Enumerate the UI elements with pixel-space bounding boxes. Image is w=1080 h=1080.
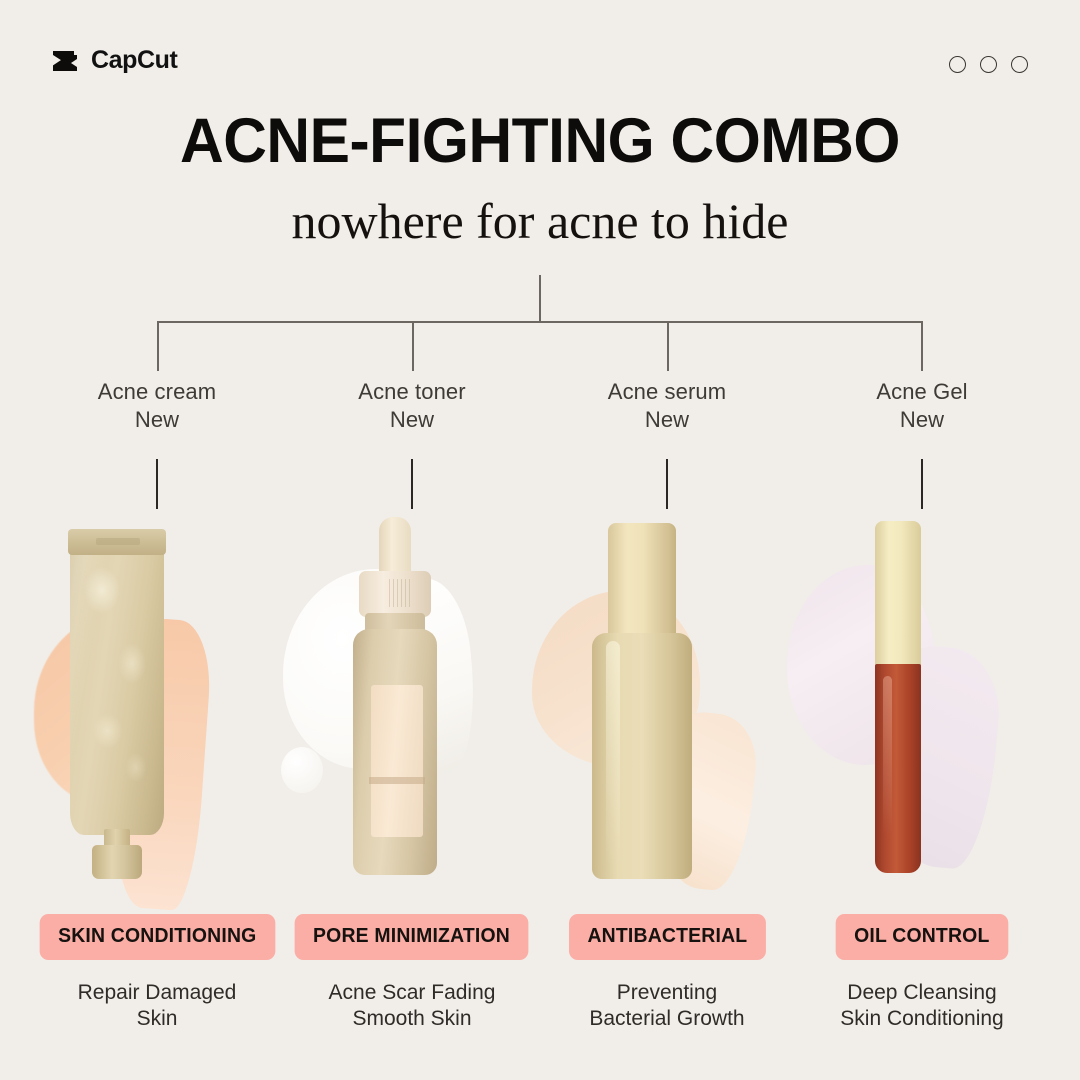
description-line-2: Skin Conditioning	[787, 1006, 1057, 1032]
gel-applicator-body	[875, 664, 921, 873]
description-line-2: Smooth Skin	[277, 1006, 547, 1032]
description-line-2: Skin	[22, 1006, 292, 1032]
connector-stub-1	[156, 459, 158, 509]
product-category-name: Acne serum	[608, 379, 726, 404]
badge-wrapper: ANTIBACTERIAL	[532, 914, 802, 960]
badge-wrapper: SKIN CONDITIONING	[22, 914, 292, 960]
cream-tube	[64, 529, 170, 874]
cream-tube-cap	[92, 845, 142, 879]
product-category-name: Acne Gel	[876, 379, 967, 404]
serum-bottle-body	[592, 633, 692, 879]
benefit-badge[interactable]: SKIN CONDITIONING	[39, 914, 274, 960]
product-description: Deep Cleansing Skin Conditioning	[787, 980, 1057, 1033]
product-category: Acne serum New	[532, 378, 802, 434]
product-category-name: Acne cream	[98, 379, 216, 404]
product-tag-new: New	[277, 406, 547, 434]
product-tag-new: New	[787, 406, 1057, 434]
product-column-acne-serum[interactable]: Acne serum New ANTIBACTERIAL Preventing …	[532, 378, 802, 1032]
cream-tube-seam	[68, 529, 166, 555]
dropper-label	[371, 685, 423, 837]
product-description: Repair Damaged Skin	[22, 980, 292, 1033]
acne-serum-bottle	[532, 517, 802, 902]
badge-wrapper: OIL CONTROL	[787, 914, 1057, 960]
acne-cream-tube	[22, 517, 292, 902]
toner-swatch-white-dot	[281, 747, 323, 793]
product-description: Acne Scar Fading Smooth Skin	[277, 980, 547, 1033]
connector-stub-3	[666, 459, 668, 509]
serum-bottle-cap	[608, 523, 676, 643]
description-line-1: Repair Damaged	[22, 980, 292, 1006]
product-category: Acne toner New	[277, 378, 547, 434]
description-line-1: Acne Scar Fading	[277, 980, 547, 1006]
product-column-acne-toner[interactable]: Acne toner New PORE MINIMIZATION Acne Sc…	[277, 378, 547, 1032]
product-category: Acne cream New	[22, 378, 292, 434]
product-description: Preventing Bacterial Growth	[532, 980, 802, 1033]
gel-applicator-cap	[875, 521, 921, 666]
product-tag-new: New	[532, 406, 802, 434]
description-line-1: Preventing	[532, 980, 802, 1006]
badge-wrapper: PORE MINIMIZATION	[277, 914, 547, 960]
product-category-name: Acne toner	[358, 379, 465, 404]
benefit-badge[interactable]: PORE MINIMIZATION	[295, 914, 529, 960]
description-line-2: Bacterial Growth	[532, 1006, 802, 1032]
product-category: Acne Gel New	[787, 378, 1057, 434]
dropper-bottle	[335, 517, 455, 877]
connector-stub-2	[411, 459, 413, 509]
product-column-acne-gel[interactable]: Acne Gel New OIL CONTROL Deep Cleansing …	[787, 378, 1057, 1032]
acne-gel-applicator	[787, 517, 1057, 902]
description-line-1: Deep Cleansing	[787, 980, 1057, 1006]
gel-applicator-tube	[867, 521, 927, 873]
benefit-badge[interactable]: OIL CONTROL	[836, 914, 1008, 960]
product-tag-new: New	[22, 406, 292, 434]
serum-bottle	[584, 523, 700, 879]
benefit-badge[interactable]: ANTIBACTERIAL	[569, 914, 766, 960]
dropper-collar-cap	[359, 571, 431, 617]
product-column-acne-cream[interactable]: Acne cream New SKIN CONDITIONING Repair …	[22, 378, 292, 1032]
connector-stub-4	[921, 459, 923, 509]
product-columns: Acne cream New SKIN CONDITIONING Repair …	[0, 0, 1080, 1080]
cream-tube-body	[70, 529, 164, 835]
dropper-bulb	[379, 517, 411, 579]
acne-toner-dropper-bottle	[277, 517, 547, 902]
